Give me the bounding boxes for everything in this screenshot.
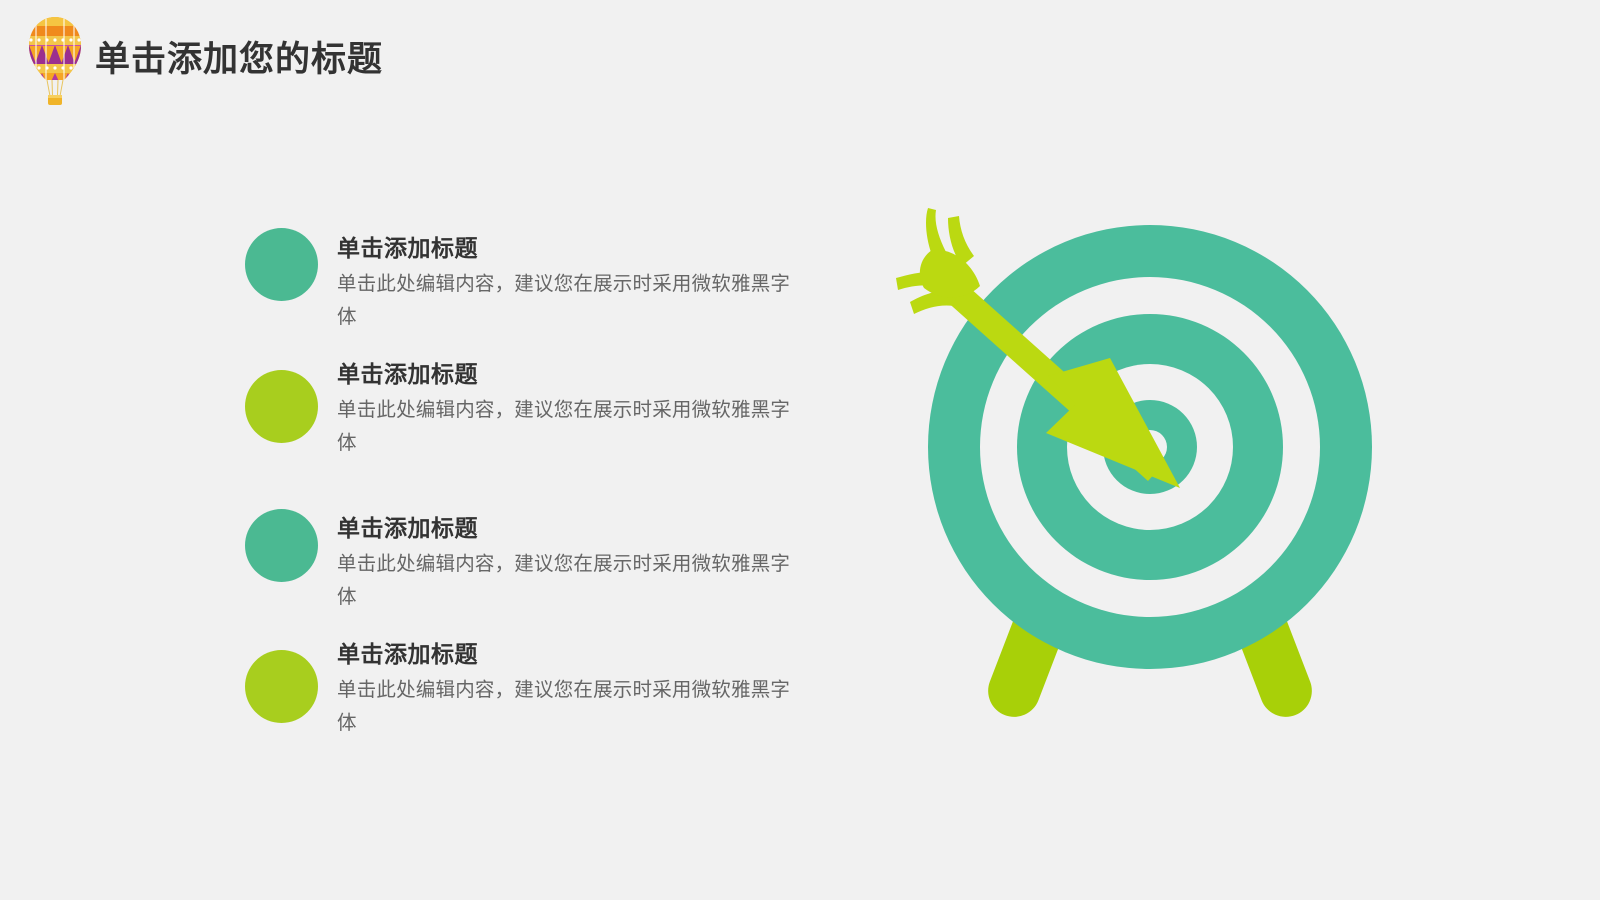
slide-header: 单击添加您的标题 — [0, 0, 1600, 130]
list-item-text: 单击添加标题 单击此处编辑内容，建议您在展示时采用微软雅黑字体 — [337, 234, 807, 335]
list-item-body: 单击此处编辑内容，建议您在展示时采用微软雅黑字体 — [337, 548, 807, 615]
list-item-title: 单击添加标题 — [337, 514, 807, 543]
page-title: 单击添加您的标题 — [95, 36, 383, 83]
list-item-title: 单击添加标题 — [337, 234, 807, 263]
list-item-text: 单击添加标题 单击此处编辑内容，建议您在展示时采用微软雅黑字体 — [337, 360, 807, 461]
list-item[interactable]: 单击添加标题 单击此处编辑内容，建议您在展示时采用微软雅黑字体 — [245, 228, 845, 368]
list-item-body: 单击此处编辑内容，建议您在展示时采用微软雅黑字体 — [337, 674, 807, 741]
bullet-dot-icon — [245, 509, 318, 582]
bullet-list: 单击添加标题 单击此处编辑内容，建议您在展示时采用微软雅黑字体 单击添加标题 单… — [245, 212, 845, 742]
list-item-text: 单击添加标题 单击此处编辑内容，建议您在展示时采用微软雅黑字体 — [337, 514, 807, 615]
list-item-title: 单击添加标题 — [337, 640, 807, 669]
list-item-body: 单击此处编辑内容，建议您在展示时采用微软雅黑字体 — [337, 268, 807, 335]
list-item-body: 单击此处编辑内容，建议您在展示时采用微软雅黑字体 — [337, 394, 807, 461]
list-item-title: 单击添加标题 — [337, 360, 807, 389]
bullet-dot-icon — [245, 650, 318, 723]
list-item-text: 单击添加标题 单击此处编辑内容，建议您在展示时采用微软雅黑字体 — [337, 640, 807, 741]
bullet-dot-icon — [245, 228, 318, 301]
list-item[interactable]: 单击添加标题 单击此处编辑内容，建议您在展示时采用微软雅黑字体 — [245, 509, 845, 649]
list-item[interactable]: 单击添加标题 单击此处编辑内容，建议您在展示时采用微软雅黑字体 — [245, 360, 845, 500]
list-item[interactable]: 单击添加标题 单击此处编辑内容，建议您在展示时采用微软雅黑字体 — [245, 640, 845, 780]
target-with-dart-illustration — [880, 190, 1420, 735]
hot-air-balloon-icon — [22, 14, 88, 110]
bullet-dot-icon — [245, 370, 318, 443]
